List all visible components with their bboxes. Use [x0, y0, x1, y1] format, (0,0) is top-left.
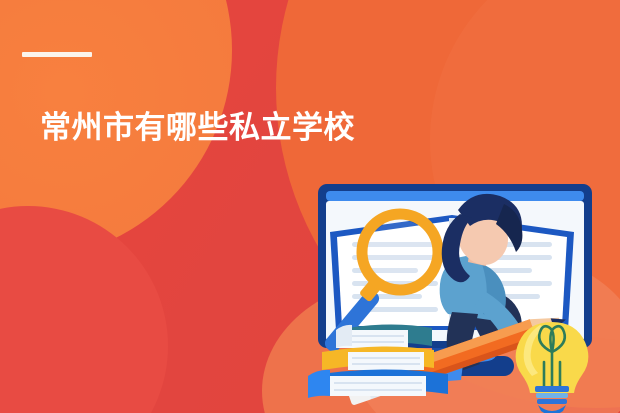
promo-banner: 常州市有哪些私立学校 — [0, 0, 620, 413]
online-learning-illustration — [300, 180, 620, 413]
lightbulb-icon — [516, 322, 589, 413]
page-title: 常州市有哪些私立学校 — [40, 108, 355, 148]
accent-rule — [22, 52, 92, 57]
